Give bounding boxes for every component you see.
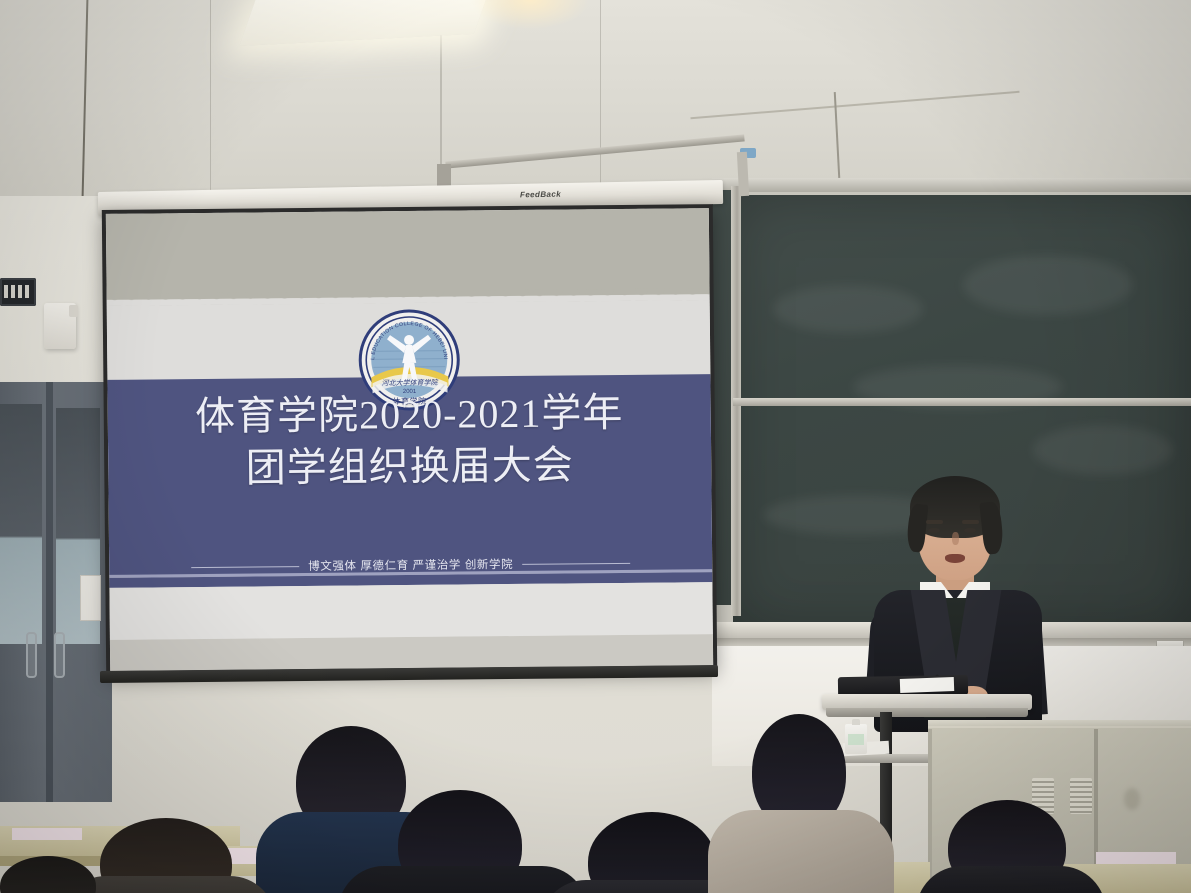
ceiling-seam — [600, 0, 601, 205]
slide-lower-band — [109, 582, 712, 640]
screen-brand-label: FeedBack — [520, 190, 561, 200]
blackboard-top-rail — [712, 178, 1191, 192]
attendee-shoulders-far-right — [916, 866, 1106, 893]
motto-rule-left — [191, 566, 299, 568]
presenter-eye-right — [964, 528, 976, 533]
motto-rule-right — [522, 562, 630, 564]
ceiling-light-fixture — [239, 0, 490, 46]
slide-title-line2: 团学组织换届大会 — [108, 438, 711, 496]
wall-mounted-speaker-icon — [44, 303, 76, 349]
attendee-shoulders-center — [338, 866, 588, 893]
slide-title: 体育学院2020-2021学年 团学组织换届大会 — [108, 386, 712, 496]
room-number-sign — [0, 278, 36, 306]
attendee-shoulders-right-coat — [708, 810, 894, 893]
desk-paper-left — [12, 828, 82, 840]
door-center-stile — [46, 382, 53, 802]
presentation-slide: 河北大学体育学院 2001 体育学院 PHYSICAL EDUCATION CO… — [106, 208, 713, 671]
slide-motto: 博文强体 厚德仁育 严谨治学 创新学院 — [308, 556, 513, 574]
podium-apron — [826, 708, 1028, 717]
presenter-brow-left — [926, 520, 943, 524]
presenter-mouth — [945, 554, 965, 563]
cabinet-vent-right — [1070, 778, 1092, 814]
classroom-photo: FeedBack — [0, 0, 1191, 893]
ceiling-seam — [210, 0, 211, 196]
presenter-brow-right — [962, 520, 979, 524]
svg-text:河北大学体育学院: 河北大学体育学院 — [381, 379, 438, 388]
cabinet-smudge — [1124, 788, 1140, 810]
slide-top-shadow-band — [106, 208, 710, 300]
door-glass-left — [0, 404, 42, 644]
door-notice — [80, 575, 101, 621]
door-handle-right[interactable] — [54, 632, 65, 678]
blackboard-horizontal-rail — [733, 398, 1191, 406]
screen-arm-foot — [437, 164, 451, 186]
podium-papers — [900, 677, 954, 693]
slide-title-line1: 体育学院2020-2021学年 — [195, 390, 624, 439]
presenter-eye-left — [928, 528, 940, 533]
hand-sanitizer-bottle — [845, 724, 867, 754]
light-glow — [470, 0, 590, 30]
projection-screen: 河北大学体育学院 2001 体育学院 PHYSICAL EDUCATION CO… — [102, 204, 717, 675]
presenter-nose — [952, 532, 959, 545]
door-handle-left[interactable] — [26, 632, 37, 678]
